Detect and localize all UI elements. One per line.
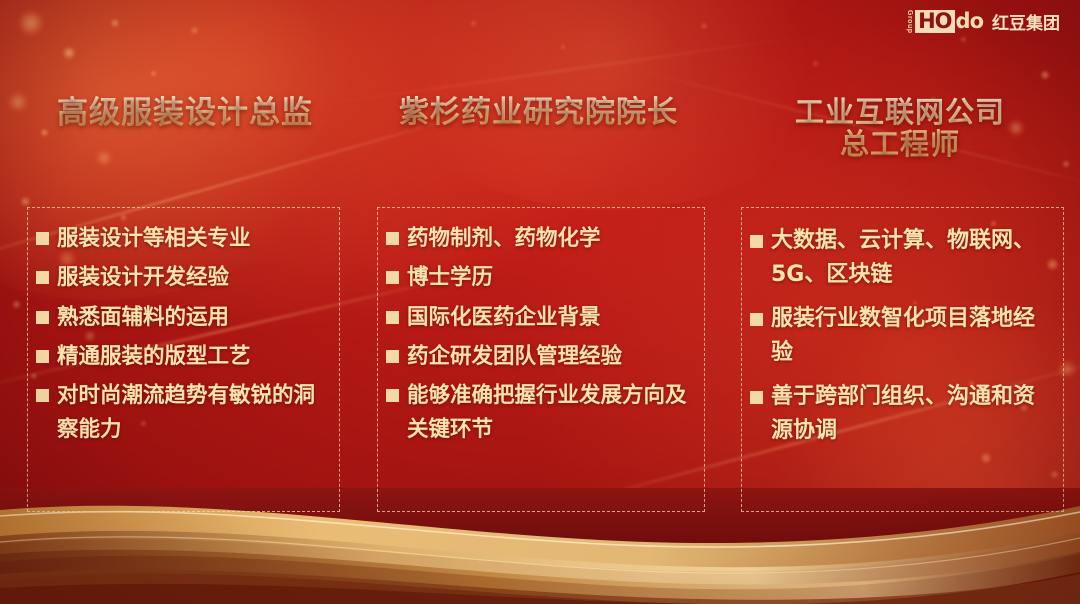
logo-group-label: Group xyxy=(906,10,913,34)
bullet-square-icon xyxy=(36,389,49,402)
list-item: 药物制剂、药物化学 xyxy=(386,222,696,255)
list-item: 精通服装的版型工艺 xyxy=(36,340,331,373)
list-item-label: 能够准确把握行业发展方向及关键环节 xyxy=(407,379,696,446)
column-title: 高级服装设计总监 xyxy=(0,96,370,131)
position-columns: 高级服装设计总监 服装设计等相关专业 服装设计开发经验 熟悉面辅料的运用 精通服… xyxy=(0,0,1080,604)
list-item: 服装行业数智化项目落地经验 xyxy=(750,302,1055,370)
list-item-label: 精通服装的版型工艺 xyxy=(57,340,251,373)
list-item: 熟悉面辅料的运用 xyxy=(36,301,331,334)
requirements-box: 服装设计等相关专业 服装设计开发经验 熟悉面辅料的运用 精通服装的版型工艺 对时… xyxy=(27,207,340,512)
list-item-label: 服装行业数智化项目落地经验 xyxy=(771,302,1055,370)
bullet-square-icon xyxy=(386,350,399,363)
column-title: 紫杉药业研究院院长 xyxy=(366,96,711,130)
list-item: 能够准确把握行业发展方向及关键环节 xyxy=(386,379,696,446)
requirements-box: 药物制剂、药物化学 博士学历 国际化医药企业背景 药企研发团队管理经验 能够准确… xyxy=(377,207,705,512)
list-item-label: 服装设计开发经验 xyxy=(57,261,229,294)
poster-stage: Group HO do 红豆集团 高级服装设计总监 服装设计等相关专业 服装设计… xyxy=(0,0,1080,604)
bullet-square-icon xyxy=(386,271,399,284)
bullet-square-icon xyxy=(36,311,49,324)
list-item: 善于跨部门组织、沟通和资源协调 xyxy=(750,380,1055,448)
bullet-square-icon xyxy=(36,232,49,245)
list-item: 大数据、云计算、物联网、5G、区块链 xyxy=(750,224,1055,292)
logo-do-outline: do xyxy=(956,10,983,33)
column-title: 工业互联网公司 总工程师 xyxy=(735,96,1065,161)
list-item-label: 国际化医药企业背景 xyxy=(407,301,601,334)
position-column-2: 紫杉药业研究院院长 药物制剂、药物化学 博士学历 国际化医药企业背景 药企研发团… xyxy=(366,96,711,130)
position-column-1: 高级服装设计总监 服装设计等相关专业 服装设计开发经验 熟悉面辅料的运用 精通服… xyxy=(0,96,370,131)
bullet-square-icon xyxy=(36,271,49,284)
list-item-label: 服装设计等相关专业 xyxy=(57,222,251,255)
list-item: 国际化医药企业背景 xyxy=(386,301,696,334)
list-item-label: 药企研发团队管理经验 xyxy=(407,340,622,373)
list-item-label: 药物制剂、药物化学 xyxy=(407,222,601,255)
list-item: 服装设计开发经验 xyxy=(36,261,331,294)
list-item: 对时尚潮流趋势有敏锐的洞察能力 xyxy=(36,379,331,446)
logo-chinese-name: 红豆集团 xyxy=(992,9,1060,34)
bullet-square-icon xyxy=(750,235,763,248)
bullet-square-icon xyxy=(386,311,399,324)
list-item-label: 博士学历 xyxy=(407,261,493,294)
list-item: 博士学历 xyxy=(386,261,696,294)
bullet-square-icon xyxy=(750,313,763,326)
logo-ho-block: HO xyxy=(915,10,954,33)
position-column-3: 工业互联网公司 总工程师 大数据、云计算、物联网、5G、区块链 服装行业数智化项… xyxy=(735,96,1065,161)
list-item: 药企研发团队管理经验 xyxy=(386,340,696,373)
list-item: 服装设计等相关专业 xyxy=(36,222,331,255)
bullet-square-icon xyxy=(386,232,399,245)
list-item-label: 对时尚潮流趋势有敏锐的洞察能力 xyxy=(57,379,331,446)
list-item-label: 善于跨部门组织、沟通和资源协调 xyxy=(771,380,1055,448)
list-item-label: 大数据、云计算、物联网、5G、区块链 xyxy=(771,224,1055,292)
logo-mark: Group HO do xyxy=(906,10,983,34)
bullet-square-icon xyxy=(386,389,399,402)
bullet-square-icon xyxy=(36,350,49,363)
list-item-label: 熟悉面辅料的运用 xyxy=(57,301,229,334)
requirements-box: 大数据、云计算、物联网、5G、区块链 服装行业数智化项目落地经验 善于跨部门组织… xyxy=(741,207,1064,512)
hodo-group-logo: Group HO do 红豆集团 xyxy=(906,9,1060,34)
bullet-square-icon xyxy=(750,391,763,404)
